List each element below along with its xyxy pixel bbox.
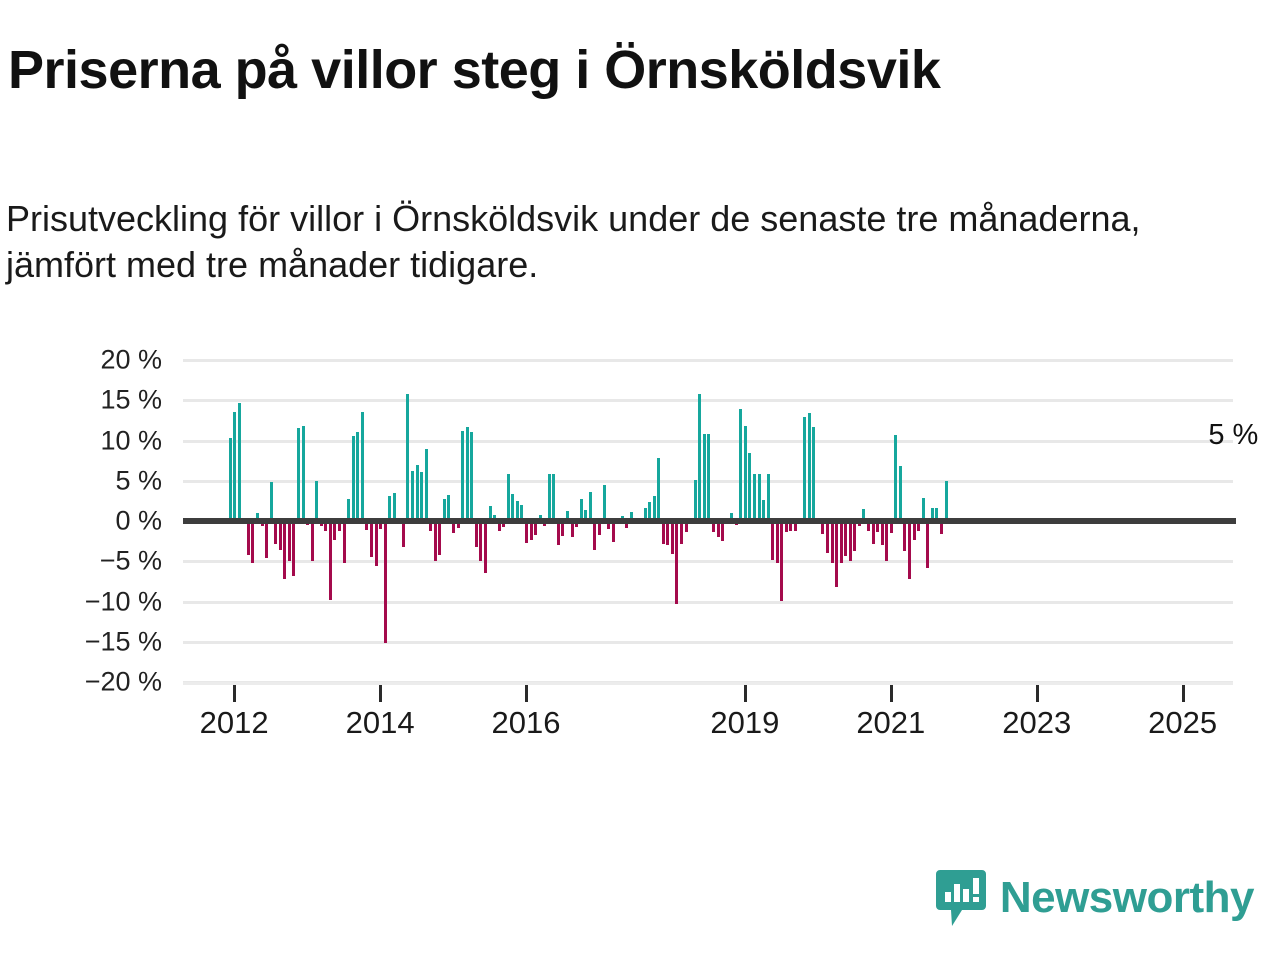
bar (470, 432, 473, 521)
bar (698, 394, 701, 521)
bar (593, 521, 596, 550)
bar (703, 434, 706, 521)
bar (840, 521, 843, 563)
bar (589, 492, 592, 521)
bar (247, 521, 250, 555)
bar (356, 432, 359, 521)
x-axis-tick-label: 2021 (856, 705, 925, 741)
y-axis-tick-label: 5 % (2, 465, 162, 496)
bar (251, 521, 254, 563)
x-axis-tick-label: 2012 (200, 705, 269, 741)
bar (311, 521, 314, 561)
bar (507, 474, 510, 521)
bar (945, 481, 948, 521)
x-axis-tick-label: 2023 (1002, 705, 1071, 741)
bar (393, 493, 396, 521)
bar (329, 521, 332, 600)
bar (411, 471, 414, 521)
bar (548, 474, 551, 521)
x-axis-line (183, 682, 1233, 685)
y-axis-tick-label: 0 % (2, 506, 162, 537)
page-title: Priserna på villor steg i Örnsköldsvik (8, 42, 1248, 99)
bar (666, 521, 669, 545)
x-axis-tick-mark (1036, 685, 1039, 702)
plot-area: 5 % (183, 360, 1236, 682)
x-axis-tick-label: 2025 (1148, 705, 1217, 741)
bar (525, 521, 528, 543)
bar (343, 521, 346, 563)
bar (899, 466, 902, 521)
bar-chart-speech-bubble-icon (936, 870, 986, 926)
bar (297, 428, 300, 521)
gridline (183, 601, 1233, 604)
bar (803, 417, 806, 521)
bar (776, 521, 779, 563)
bar (603, 485, 606, 521)
x-axis-tick-mark (744, 685, 747, 702)
bar (557, 521, 560, 545)
bar (612, 521, 615, 542)
x-axis-tick-label: 2014 (346, 705, 415, 741)
bar (671, 521, 674, 554)
bar (315, 481, 318, 521)
bar (302, 426, 305, 521)
bar (853, 521, 856, 551)
bar (265, 521, 268, 558)
gridline (183, 560, 1233, 563)
bar (881, 521, 884, 545)
bar (680, 521, 683, 544)
bar (657, 458, 660, 521)
bar (707, 434, 710, 521)
bar (744, 426, 747, 521)
y-axis-tick-label: −5 % (2, 546, 162, 577)
bar (675, 521, 678, 604)
bar (425, 449, 428, 521)
bar (721, 521, 724, 541)
bar (274, 521, 277, 544)
bar (292, 521, 295, 576)
bar (844, 521, 847, 556)
y-axis-tick-label: −20 % (2, 667, 162, 698)
bar (872, 521, 875, 544)
bar (812, 427, 815, 521)
bar (434, 521, 437, 561)
y-axis: 20 %15 %10 %5 %0 %−5 %−10 %−15 %−20 % (0, 360, 162, 690)
bar (416, 465, 419, 521)
bar (475, 521, 478, 547)
bar (808, 413, 811, 521)
bar (233, 412, 236, 521)
bar (739, 409, 742, 521)
bar (238, 403, 241, 521)
bar (885, 521, 888, 561)
x-axis-tick-mark (233, 685, 236, 702)
bar (780, 521, 783, 601)
bar (835, 521, 838, 587)
x-axis-tick-mark (379, 685, 382, 702)
bar (438, 521, 441, 555)
bar (370, 521, 373, 557)
bar (466, 427, 469, 521)
gridline (183, 641, 1233, 644)
bar (694, 480, 697, 521)
bar (552, 474, 555, 521)
bar (894, 435, 897, 521)
bar (279, 521, 282, 550)
bar (771, 521, 774, 560)
bar (375, 521, 378, 566)
bar (767, 474, 770, 521)
bar (511, 494, 514, 521)
bar (753, 474, 756, 521)
bar (270, 482, 273, 521)
bar (908, 521, 911, 579)
bar (283, 521, 286, 579)
bar (758, 474, 761, 521)
chart-subtitle: Prisutveckling för villor i Örnsköldsvik… (6, 196, 1236, 288)
y-axis-tick-label: 15 % (2, 385, 162, 416)
x-axis-tick-mark (1182, 685, 1185, 702)
bar (926, 521, 929, 568)
bar (229, 438, 232, 521)
bar-chart: 20 %15 %10 %5 %0 %−5 %−10 %−15 %−20 % 5 … (0, 360, 1280, 760)
y-axis-tick-label: −10 % (2, 586, 162, 617)
x-axis-tick-mark (525, 685, 528, 702)
bar (288, 521, 291, 561)
zero-baseline (183, 518, 1236, 524)
y-axis-tick-label: 20 % (2, 345, 162, 376)
bar (420, 472, 423, 521)
newsworthy-logo[interactable]: Newsworthy (936, 870, 1254, 926)
bar (384, 521, 387, 643)
bar (484, 521, 487, 573)
y-axis-tick-label: 10 % (2, 425, 162, 456)
bar (662, 521, 665, 544)
bar (826, 521, 829, 553)
bar (479, 521, 482, 561)
bar (402, 521, 405, 547)
chart-page: Priserna på villor steg i Örnsköldsvik P… (0, 0, 1280, 960)
logo-wordmark: Newsworthy (1000, 876, 1254, 920)
y-axis-tick-label: −15 % (2, 626, 162, 657)
value-annotation: 5 % (1208, 419, 1258, 452)
bar (406, 394, 409, 521)
bar (903, 521, 906, 551)
bar (461, 431, 464, 521)
bar (361, 412, 364, 521)
bar (748, 453, 751, 521)
x-axis-tick-label: 2019 (710, 705, 779, 741)
x-axis-tick-mark (890, 685, 893, 702)
gridline (183, 359, 1233, 362)
x-axis-tick-label: 2016 (492, 705, 561, 741)
bar (831, 521, 834, 563)
gridline (183, 399, 1233, 402)
bar (849, 521, 852, 561)
bar (352, 436, 355, 521)
